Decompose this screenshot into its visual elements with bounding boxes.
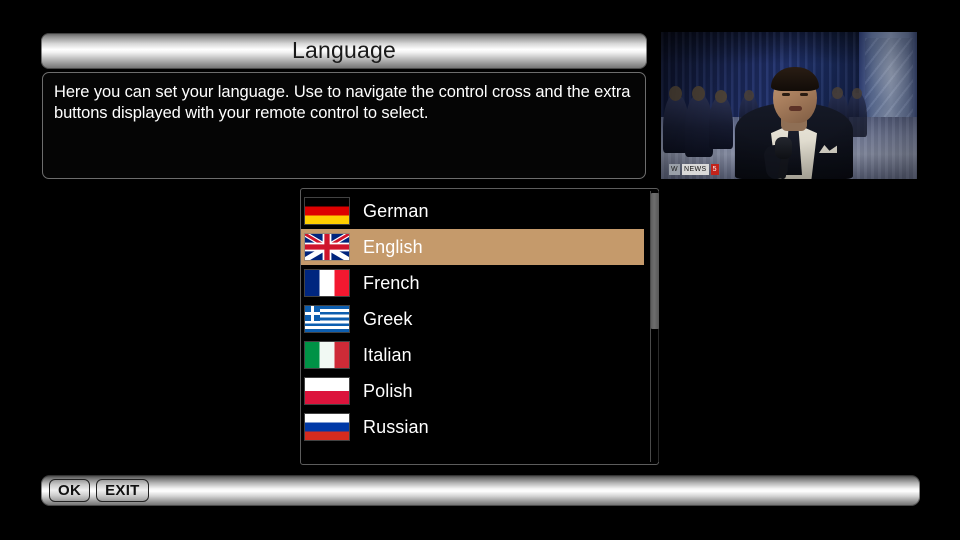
- help-description-box: Here you can set your language. Use to n…: [42, 72, 646, 179]
- preview-vignette: [661, 32, 917, 179]
- flag-pl-icon: [305, 378, 349, 404]
- vertical-scrollbar-thumb[interactable]: [651, 193, 659, 329]
- language-list-item-italian[interactable]: Italian: [301, 337, 644, 373]
- ok-button[interactable]: OK: [49, 479, 90, 502]
- page-title: Language: [292, 39, 396, 64]
- bottom-hotkey-bar: OK EXIT: [41, 475, 920, 506]
- tv-settings-screen: Language Here you can set your language.…: [0, 0, 960, 540]
- exit-button[interactable]: EXIT: [96, 479, 149, 502]
- flag-ru-icon: [305, 414, 349, 440]
- channel-logo-bug: W NEWS 5: [669, 164, 719, 175]
- language-label: Italian: [363, 346, 412, 364]
- language-label: English: [363, 238, 423, 256]
- language-label: French: [363, 274, 420, 292]
- page-title-bar: Language: [41, 33, 647, 69]
- channel-bug-part-2: NEWS: [682, 164, 709, 175]
- language-list-item-greek[interactable]: Greek: [301, 301, 644, 337]
- flag-it-icon: [305, 342, 349, 368]
- language-list-item-french[interactable]: French: [301, 265, 644, 301]
- language-list-item-german[interactable]: German: [301, 193, 644, 229]
- flag-gr-cross-horizontal: [305, 312, 320, 315]
- live-tv-preview[interactable]: W NEWS 5: [661, 32, 917, 179]
- language-label: Greek: [363, 310, 413, 328]
- channel-bug-part-3: 5: [711, 164, 719, 175]
- flag-gr-icon: [305, 306, 349, 332]
- flag-fr-icon: [305, 270, 349, 296]
- channel-bug-part-1: W: [669, 164, 680, 175]
- language-list-item-russian[interactable]: Russian: [301, 409, 644, 445]
- flag-gb-icon: [305, 234, 349, 260]
- language-label: German: [363, 202, 429, 220]
- flag-de-icon: [305, 198, 349, 224]
- language-list-item-english[interactable]: English: [301, 229, 644, 265]
- language-label: Russian: [363, 418, 429, 436]
- help-description-text: Here you can set your language. Use to n…: [54, 82, 633, 124]
- language-list-item-polish[interactable]: Polish: [301, 373, 644, 409]
- language-label: Polish: [363, 382, 413, 400]
- language-list: German English French: [301, 193, 644, 445]
- language-list-panel[interactable]: German English French: [300, 188, 659, 465]
